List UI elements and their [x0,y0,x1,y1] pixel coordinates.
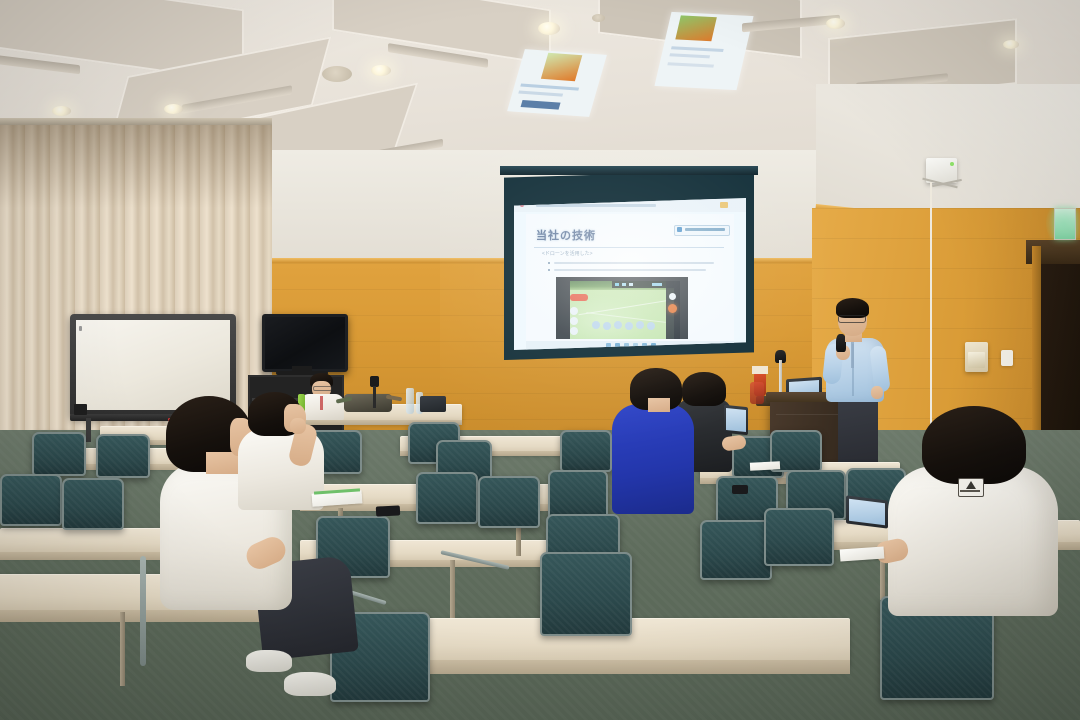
mobile-phone[interactable] [732,485,748,494]
student-blue-neck [648,398,670,412]
slide-browser-url [536,204,656,207]
back-table-laptop[interactable] [420,396,446,412]
wifi-ap-led [950,162,954,166]
slide-reflection-right [654,12,753,90]
slide-text-line [554,269,706,271]
slide-video-waypoint [636,321,644,329]
chair-frame-rail [140,556,146,666]
desk-leg [450,560,455,618]
slide-logo-mark [677,227,682,232]
slide-bullet-dot [548,262,550,264]
power-outlet[interactable] [1001,350,1013,366]
chair[interactable] [700,520,772,580]
wall-phone-handset [968,352,985,368]
slide-video-control-dot[interactable] [669,293,676,300]
slide-text-line [554,262,714,264]
student-black-laptop-screen [726,408,746,432]
chair[interactable] [416,472,478,524]
slide-bullet-marker: <ドローンを活用した> [542,250,593,257]
slide-video-toolbar-icon [622,283,626,286]
slide-video-waypoint [592,321,600,329]
chair[interactable] [62,478,124,530]
projection-screen: 当社の技術 <ドローンを活用した> [514,198,746,350]
student-front-left-shoe [284,672,336,696]
chair[interactable] [548,470,608,520]
presenter-glasses [838,315,866,323]
slide-video-toolbar-icon [652,283,662,286]
chair[interactable] [560,430,612,472]
slide-logo-text [685,228,725,231]
chair[interactable] [764,508,834,566]
staff-back-glasses [313,386,332,391]
chair[interactable] [0,474,62,526]
paper-sheet[interactable] [750,461,780,471]
student-right-hair [922,406,1026,484]
slide-title-rule [534,247,724,248]
slide-video-waypoint [614,321,622,329]
ceiling-downlight [52,106,71,116]
exit-sign [1054,208,1076,240]
slide-video-toolbar-icon [615,283,619,286]
chair[interactable] [96,434,150,478]
slide-video-waypoint [625,322,633,330]
student-black-hair [682,372,726,406]
slide-video-control-dot[interactable] [570,327,578,335]
projector-screen-roller [500,166,758,175]
television [262,314,348,372]
slide-video-control-dot[interactable] [570,307,578,315]
whiteboard-eraser[interactable] [74,404,87,415]
ceiling-downlight [164,104,183,114]
ceiling-smoke-detector [592,14,605,22]
whiteboard-stand-leg [86,418,91,442]
slide-video-badge [570,294,588,301]
student-front-left-shoe [246,650,292,672]
chair[interactable] [478,476,540,528]
ceiling-downlight [826,18,845,29]
ceiling-downlight [1003,40,1019,49]
desk-leg [120,612,125,686]
slide-video-waypoint [603,322,611,330]
curtain-rail [0,118,272,125]
wall-cable [930,182,932,442]
curtain-shadow [0,120,272,280]
student-right-laptop-screen [849,499,885,525]
slide-browser-icon [720,202,728,208]
slide-bullet-dot [548,269,550,271]
ceiling-speaker [322,66,352,82]
mobile-phone[interactable] [376,505,400,516]
student-blue-torso [612,404,694,514]
tripod-leg [373,386,376,408]
student-right-shirt-logo-mark [966,481,976,489]
fire-extinguisher-sign [752,366,768,374]
slide-video-record-dot[interactable] [668,304,677,313]
slide-title: 当社の技術 [536,230,596,243]
whiteboard-hinge [79,326,82,331]
slide-video-waypoint [647,322,655,330]
presenter-lanyard [851,342,854,368]
desk-row-1-left-edge [0,610,260,622]
slide-reflection-left [507,49,607,117]
water-bottle[interactable] [406,388,414,414]
ceiling-downlight [538,22,560,35]
staff-back-lanyard [320,396,323,410]
slide-video-player[interactable] [556,277,688,339]
chair[interactable] [32,432,86,476]
seminar-room-photo: 当社の技術 <ドローンを活用した> [0,0,1080,720]
red-decoration [750,382,764,404]
slide-video-toolbar-icon [629,283,633,286]
presenter-hand-right [871,386,883,399]
ceiling-downlight [371,65,391,76]
student-second-left-hand [290,418,306,434]
slide-video-control-dot[interactable] [570,317,578,325]
student-right-shirt-logo-text [960,490,980,492]
desk-row-1-center-edge [370,660,850,674]
chair[interactable] [540,552,632,636]
